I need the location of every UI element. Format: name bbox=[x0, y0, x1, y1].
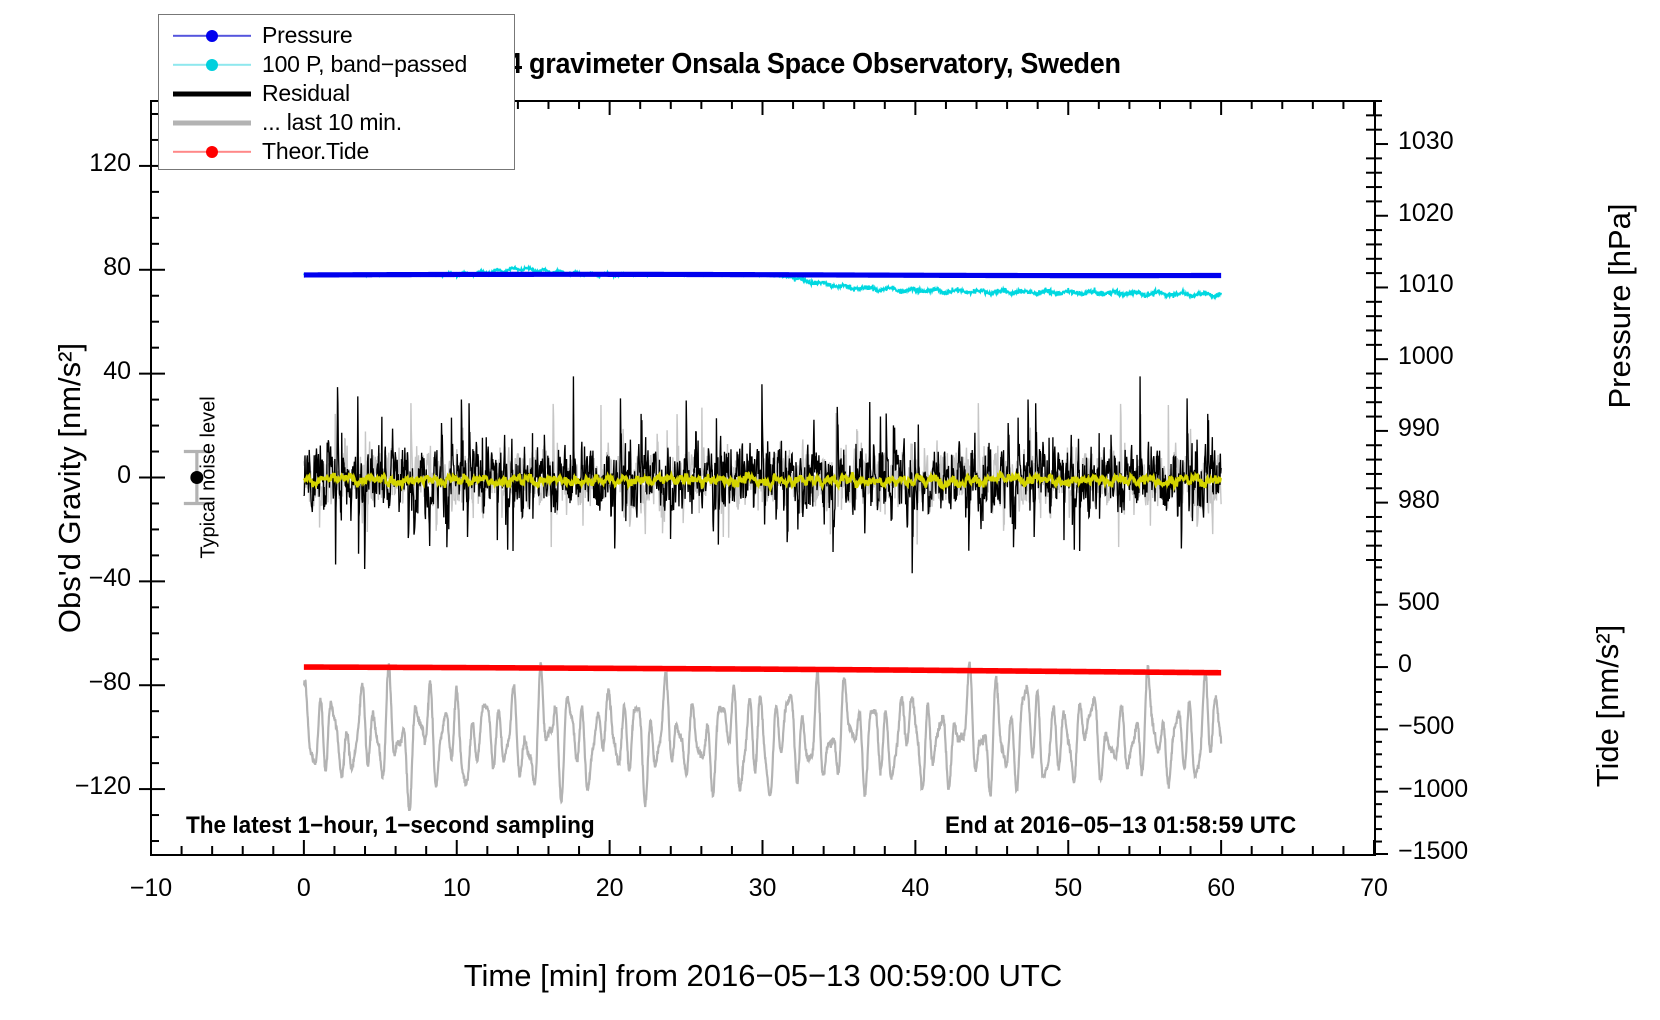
legend-swatch-band-passed bbox=[173, 55, 251, 75]
y-left-tick-label: 120 bbox=[1, 149, 131, 178]
legend-label-residual: Residual bbox=[251, 80, 350, 107]
pressure-tick-label: 990 bbox=[1398, 414, 1498, 443]
pressure-tick-label: 1020 bbox=[1398, 199, 1498, 228]
y-left-tick-label: −120 bbox=[1, 772, 131, 801]
typical-noise-label: Typical noise level bbox=[197, 362, 220, 592]
legend-label-theor-tide: Theor.Tide bbox=[251, 138, 369, 165]
legend-item-last-10-min[interactable]: ... last 10 min. bbox=[159, 108, 514, 137]
x-tick-label: 0 bbox=[244, 874, 364, 903]
legend-swatch-theor-tide bbox=[173, 142, 251, 162]
chart-canvas: SCG_054 gravimeter Onsala Space Observat… bbox=[0, 0, 1660, 1020]
x-tick-label: 70 bbox=[1314, 874, 1434, 903]
x-tick-label: 40 bbox=[855, 874, 975, 903]
legend-item-residual[interactable]: Residual bbox=[159, 79, 514, 108]
legend-swatch-residual bbox=[173, 84, 251, 104]
x-tick-label: 10 bbox=[397, 874, 517, 903]
pressure-tick-label: 1000 bbox=[1398, 342, 1498, 371]
pressure-tick-label: 980 bbox=[1398, 486, 1498, 515]
tide-tick-label: 500 bbox=[1398, 588, 1508, 617]
y-axis-right-ticks bbox=[1366, 101, 1388, 854]
series-pressure bbox=[304, 274, 1221, 275]
annotation-end-time: End at 2016−05−13 01:58:59 UTC bbox=[945, 812, 1296, 840]
legend-swatch-pressure bbox=[173, 26, 251, 46]
legend-item-pressure[interactable]: Pressure bbox=[159, 21, 514, 50]
y-axis-left-title: Obs'd Gravity [nm/s²] bbox=[52, 278, 88, 698]
x-axis-title: Time [min] from 2016−05−13 00:59:00 UTC bbox=[150, 958, 1376, 994]
x-tick-label: 20 bbox=[550, 874, 670, 903]
y-axis-left-ticks bbox=[139, 114, 165, 841]
legend-label-last-10-min: ... last 10 min. bbox=[251, 109, 402, 136]
x-tick-label: 30 bbox=[703, 874, 823, 903]
series-theor-tide bbox=[304, 667, 1221, 673]
pressure-tick-label: 1030 bbox=[1398, 127, 1498, 156]
legend: Pressure 100 P, band−passed Residual ...… bbox=[158, 14, 515, 170]
y-axis-tide-title: Tide [nm/s²] bbox=[1590, 546, 1626, 866]
legend-item-band-passed[interactable]: 100 P, band−passed bbox=[159, 50, 514, 79]
pressure-tick-label: 1010 bbox=[1398, 270, 1498, 299]
tide-tick-label: −500 bbox=[1398, 712, 1508, 741]
annotation-sampling: The latest 1−hour, 1−second sampling bbox=[186, 812, 595, 840]
series-band-passed bbox=[304, 267, 1221, 299]
y-axis-pressure-title: Pressure [hPa] bbox=[1602, 116, 1638, 496]
x-tick-label: 50 bbox=[1008, 874, 1128, 903]
legend-label-band-passed: 100 P, band−passed bbox=[251, 51, 467, 78]
legend-item-theor-tide[interactable]: Theor.Tide bbox=[159, 137, 514, 166]
tide-tick-label: 0 bbox=[1398, 650, 1508, 679]
series-last-10-min-lower bbox=[304, 662, 1221, 810]
x-tick-label: 60 bbox=[1161, 874, 1281, 903]
x-tick-label: −10 bbox=[91, 874, 211, 903]
tide-tick-label: −1500 bbox=[1398, 837, 1508, 866]
tide-tick-label: −1000 bbox=[1398, 775, 1508, 804]
legend-label-pressure: Pressure bbox=[251, 22, 352, 49]
legend-swatch-last-10-min bbox=[173, 113, 251, 133]
